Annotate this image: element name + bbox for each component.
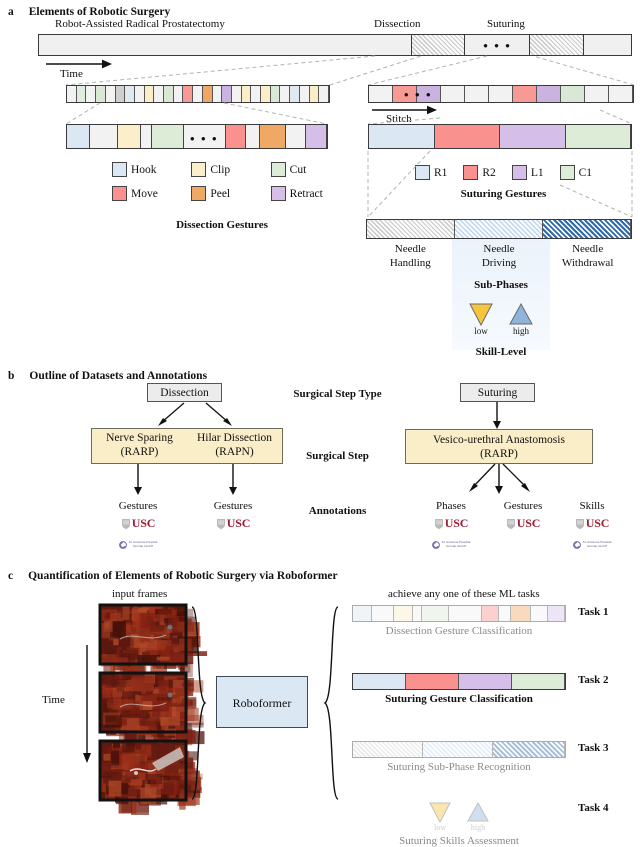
task-strip-segment[interactable] xyxy=(406,674,459,689)
dissection-strip-segment[interactable] xyxy=(116,86,126,102)
suturing-strip-segment[interactable] xyxy=(513,86,537,102)
panel-b-tag: b xyxy=(8,370,14,382)
subphases-title: Sub-Phases xyxy=(452,279,550,291)
task-strip-segment[interactable] xyxy=(413,606,422,621)
triangle-up-icon xyxy=(467,801,489,823)
dissection-strip-segment[interactable] xyxy=(135,86,145,102)
task-strip-segment[interactable] xyxy=(482,606,499,621)
dissection-strip-segment[interactable] xyxy=(86,86,96,102)
task-caption-2: Suturing Gesture Classification xyxy=(352,693,566,705)
dissection-strip-segment[interactable] xyxy=(213,86,223,102)
subphase-label-line1: Needle xyxy=(366,243,455,257)
annotation-right-1: Phases xyxy=(415,500,487,512)
task-skill-low[interactable]: low xyxy=(429,801,451,832)
suturing-strip-segment[interactable] xyxy=(609,86,633,102)
task-id-3: Task 3 xyxy=(578,742,608,754)
dissection-strip-segment[interactable] xyxy=(232,86,242,102)
dissection-strip-segment[interactable] xyxy=(251,86,261,102)
task-strip-segment[interactable] xyxy=(493,742,565,757)
dissection-gesture-segment[interactable] xyxy=(260,125,285,148)
dissection-strip-segment[interactable] xyxy=(183,86,193,102)
dissection-strip-segment[interactable] xyxy=(164,86,174,102)
row-label-step: Surgical Step xyxy=(275,450,400,462)
subphase-labels: NeedleHandlingNeedleDrivingNeedleWithdra… xyxy=(366,243,632,271)
dissection-strip-segment[interactable] xyxy=(280,86,290,102)
tasks-header: achieve any one of these ML tasks xyxy=(388,588,540,600)
dissection-strip-segment[interactable] xyxy=(290,86,300,102)
task-skill-icons[interactable]: lowhigh xyxy=(352,801,566,832)
task-strip-1[interactable] xyxy=(352,605,566,622)
panel-a-title: Elements of Robotic Surgery xyxy=(29,6,171,18)
usc-shield-icon xyxy=(575,518,585,530)
usc-wordmark: USC xyxy=(445,516,468,531)
task-strip-segment[interactable] xyxy=(394,606,413,621)
panel-a-tag: a xyxy=(8,6,14,18)
procedure-label: Robot-Assisted Radical Prostatectomy xyxy=(55,18,225,30)
dissection-gesture-segment[interactable] xyxy=(286,125,307,148)
zoom-connectors-2 xyxy=(0,102,640,126)
task-skill-label: high xyxy=(467,823,489,832)
dissection-strip-segment[interactable] xyxy=(125,86,135,102)
endoscopic-image xyxy=(100,605,186,664)
usc-wordmark: USC xyxy=(517,516,540,531)
subphase-label-line1: Needle xyxy=(543,243,632,257)
dissection-gesture-ellipsis: • • • xyxy=(190,132,218,145)
hospital-name-line2: Gronau GmbH xyxy=(442,545,471,549)
task-strip-segment[interactable] xyxy=(512,674,565,689)
dissection-strip-segment[interactable] xyxy=(67,86,77,102)
suturing-root-box[interactable]: Suturing xyxy=(460,383,535,402)
task-caption-1: Dissection Gesture Classification xyxy=(352,625,566,637)
suturing-strip-segment[interactable] xyxy=(561,86,585,102)
task-strip-segment[interactable] xyxy=(531,606,548,621)
endoscopic-image xyxy=(100,741,186,800)
zoom-connectors-3 xyxy=(0,149,640,219)
dissection-strip-segment[interactable] xyxy=(261,86,271,102)
row-label-annotations: Annotations xyxy=(275,505,400,517)
task-skill-label: low xyxy=(429,823,451,832)
usc-wordmark: USC xyxy=(132,516,155,531)
dissection-root-box[interactable]: Dissection xyxy=(147,383,222,402)
skill-level-title: Skill-Level xyxy=(452,346,550,358)
usc-shield-icon xyxy=(216,518,226,530)
task-strip-segment[interactable] xyxy=(548,606,565,621)
suturing-label: Suturing xyxy=(487,18,525,30)
dissection-strip-segment[interactable] xyxy=(222,86,232,102)
skill-label: low xyxy=(469,326,493,336)
left-steps-box[interactable]: Nerve Sparing (RARP) Hilar Dissection (R… xyxy=(91,428,283,464)
usc-logo: USC xyxy=(575,516,609,531)
panel-c-header: c Quantification of Elements of Robotic … xyxy=(8,566,338,584)
task-strip-segment[interactable] xyxy=(353,742,423,757)
hospital-name-line2: Gronau GmbH xyxy=(129,545,158,549)
usc-shield-icon xyxy=(121,518,131,530)
endoscopic-image xyxy=(100,673,186,732)
dissection-gesture-segment[interactable] xyxy=(246,125,260,148)
task-visual-2[interactable]: Suturing Gesture Classification xyxy=(352,673,566,705)
time-label-c: Time xyxy=(42,694,65,706)
roboformer-model-box[interactable]: Roboformer xyxy=(216,676,308,728)
suturing-strip-segment[interactable] xyxy=(489,86,513,102)
task-id-1: Task 1 xyxy=(578,606,608,618)
logos-right-3: USC St. Antonius-Hospital Gronau GmbH xyxy=(556,515,628,554)
usc-shield-icon xyxy=(506,518,516,530)
suturing-strip-segment[interactable] xyxy=(585,86,609,102)
left-annotation-arrows xyxy=(120,464,300,496)
dissection-gesture-segment[interactable] xyxy=(152,125,184,148)
surgical-frame-1[interactable] xyxy=(100,605,186,664)
task-strip-segment[interactable] xyxy=(423,742,493,757)
subphase-segment-medium[interactable] xyxy=(455,220,543,238)
task-strip-segment[interactable] xyxy=(449,606,483,621)
timeline-segment-procedure[interactable] xyxy=(39,35,412,55)
panel-c-title: Quantification of Elements of Robotic Su… xyxy=(28,570,338,582)
suturing-gesture-segment-L1[interactable] xyxy=(500,125,566,148)
dissection-strip-segment[interactable] xyxy=(300,86,310,102)
annotation-left-2: Gestures xyxy=(193,500,273,512)
dissection-strip-segment[interactable] xyxy=(242,86,252,102)
right-annotation-arrows xyxy=(420,464,580,496)
annotation-right-2: Gestures xyxy=(487,500,559,512)
triangle-down-icon xyxy=(469,302,493,326)
task-strip-segment[interactable] xyxy=(499,606,510,621)
hospital-circle-icon xyxy=(573,541,581,549)
task-id-2: Task 2 xyxy=(578,674,608,686)
timeline-segment-suturing[interactable] xyxy=(530,35,583,55)
dissection-gesture-segment[interactable] xyxy=(226,125,247,148)
right-tree-arrow xyxy=(460,402,540,430)
dissection-strip-segment[interactable] xyxy=(271,86,281,102)
task-strip-segment[interactable] xyxy=(459,674,512,689)
hospital-name-line2: Gronau GmbH xyxy=(583,545,612,549)
subphase-label-line2: Withdrawal xyxy=(543,257,632,271)
logos-left-1: USC St. Antonius-Hospital Gronau GmbH xyxy=(98,515,178,554)
suturing-strip-segment[interactable] xyxy=(369,86,393,102)
task-visual-1[interactable]: Dissection Gesture Classification xyxy=(352,605,566,637)
subphase-segment-light[interactable] xyxy=(367,220,455,238)
time-arrow-vertical-icon xyxy=(80,645,94,765)
task-visual-4[interactable]: lowhighSuturing Skills Assessment xyxy=(352,801,566,847)
task-strip-segment[interactable] xyxy=(353,674,406,689)
hospital-circle-icon xyxy=(432,541,440,549)
suturing-gesture-segment-R1[interactable] xyxy=(369,125,435,148)
logos-right-2: USC xyxy=(487,515,559,535)
subphase-segment-dark[interactable] xyxy=(543,220,631,238)
brace-frames-icon xyxy=(190,605,208,801)
usc-logo: USC xyxy=(216,516,250,531)
task-caption-3: Suturing Sub-Phase Recognition xyxy=(352,761,566,773)
hospital-logo: St. Antonius-Hospital Gronau GmbH xyxy=(573,541,612,549)
hospital-logo: St. Antonius-Hospital Gronau GmbH xyxy=(119,541,158,549)
logos-right-1: USC St. Antonius-Hospital Gronau GmbH xyxy=(415,515,487,554)
subphase-label: NeedleHandling xyxy=(366,243,455,271)
task-skill-high[interactable]: high xyxy=(467,801,489,832)
task-visual-3[interactable]: Suturing Sub-Phase Recognition xyxy=(352,741,566,773)
dissection-strip-segment[interactable] xyxy=(96,86,106,102)
dissection-strip-segment[interactable] xyxy=(106,86,116,102)
logos-left-2: USC xyxy=(193,515,273,535)
dissection-strip-segment[interactable] xyxy=(203,86,213,102)
brace-tasks-icon xyxy=(322,605,340,801)
skill-label: high xyxy=(509,326,533,336)
usc-shield-icon xyxy=(434,518,444,530)
task-strip-2[interactable] xyxy=(352,673,566,690)
panel-c-tag: c xyxy=(8,570,13,582)
dissection-gestures-title: Dissection Gestures xyxy=(112,219,332,231)
step-hilar-dissection: Hilar Dissection (RAPN) xyxy=(187,432,282,459)
suturing-gesture-segment-R2[interactable] xyxy=(435,125,501,148)
usc-wordmark: USC xyxy=(227,516,250,531)
dissection-strip-segment[interactable] xyxy=(174,86,184,102)
hospital-name: St. Antonius-Hospital Gronau GmbH xyxy=(442,541,471,548)
dissection-gesture-segment[interactable] xyxy=(306,125,327,148)
suturing-strip-segment[interactable] xyxy=(537,86,561,102)
hospital-name: St. Antonius-Hospital Gronau GmbH xyxy=(129,541,158,548)
usc-logo: USC xyxy=(121,516,155,531)
timeline-segment-dissection[interactable] xyxy=(412,35,465,55)
subphase-label-line2: Handling xyxy=(366,257,455,271)
timeline-ellipsis: • • • xyxy=(483,39,511,52)
task-strip-segment[interactable] xyxy=(372,606,395,621)
surgical-frame-2[interactable] xyxy=(100,673,186,732)
zoom-connectors-1 xyxy=(0,55,640,87)
dissection-strip-segment[interactable] xyxy=(77,86,87,102)
hospital-logo: St. Antonius-Hospital Gronau GmbH xyxy=(432,541,471,549)
dissection-detail-strip[interactable] xyxy=(66,85,330,103)
hospital-circle-icon xyxy=(119,541,127,549)
left-tree-arrows xyxy=(120,402,300,430)
task-caption-4: Suturing Skills Assessment xyxy=(352,835,566,847)
triangle-down-icon xyxy=(429,801,451,823)
step-nerve-sparing: Nerve Sparing (RARP) xyxy=(92,432,187,459)
suturing-gesture-sequence[interactable] xyxy=(368,124,632,149)
hospital-name: St. Antonius-Hospital Gronau GmbH xyxy=(583,541,612,548)
task-strip-segment[interactable] xyxy=(511,606,532,621)
dissection-label: Dissection xyxy=(374,18,420,30)
dissection-gesture-segment[interactable] xyxy=(118,125,141,148)
panel-b-header: b Outline of Datasets and Annotations xyxy=(8,366,207,384)
dissection-strip-segment[interactable] xyxy=(319,86,329,102)
surgery-timeline-bar[interactable]: • • • xyxy=(38,34,632,56)
task-strip-segment[interactable] xyxy=(422,606,448,621)
task-strip-segment[interactable] xyxy=(353,606,372,621)
suturing-strip-segment[interactable] xyxy=(465,86,489,102)
dissection-gesture-segment[interactable] xyxy=(141,125,153,148)
input-frames-label: input frames xyxy=(112,588,167,600)
surgical-frame-3[interactable] xyxy=(100,741,186,800)
right-step-box[interactable]: Vesico-urethral Anastomosis (RARP) xyxy=(405,429,593,464)
dissection-gesture-segment[interactable] xyxy=(90,125,118,148)
subphase-label: NeedleWithdrawal xyxy=(543,243,632,271)
task-strip-3[interactable] xyxy=(352,741,566,758)
triangle-up-icon xyxy=(509,302,533,326)
subphase-label: NeedleDriving xyxy=(455,243,544,271)
skill-level-icons: lowhigh xyxy=(452,302,550,336)
dissection-strip-segment[interactable] xyxy=(310,86,320,102)
dissection-gesture-segment[interactable] xyxy=(67,125,90,148)
suturing-gesture-segment-C1[interactable] xyxy=(566,125,632,148)
dissection-strip-segment[interactable] xyxy=(193,86,203,102)
timeline-segment-tail[interactable] xyxy=(584,35,631,55)
timeline-segment-gap[interactable]: • • • xyxy=(465,35,530,55)
skill-high[interactable]: high xyxy=(509,302,533,336)
row-label-step-type: Surgical Step Type xyxy=(275,388,400,400)
subphase-bar[interactable] xyxy=(366,219,632,239)
subphase-label-line2: Driving xyxy=(455,257,544,271)
suturing-strip-ellipsis: • • • xyxy=(404,88,432,101)
subphase-label-line1: Needle xyxy=(455,243,544,257)
skill-low[interactable]: low xyxy=(469,302,493,336)
dissection-strip-segment[interactable] xyxy=(154,86,164,102)
panel-b-title: Outline of Datasets and Annotations xyxy=(29,370,207,382)
usc-logo: USC xyxy=(506,516,540,531)
annotation-right-3: Skills xyxy=(556,500,628,512)
usc-logo: USC xyxy=(434,516,468,531)
annotation-left-1: Gestures xyxy=(98,500,178,512)
usc-wordmark: USC xyxy=(586,516,609,531)
suturing-strip-segment[interactable] xyxy=(441,86,465,102)
dissection-strip-segment[interactable] xyxy=(145,86,155,102)
